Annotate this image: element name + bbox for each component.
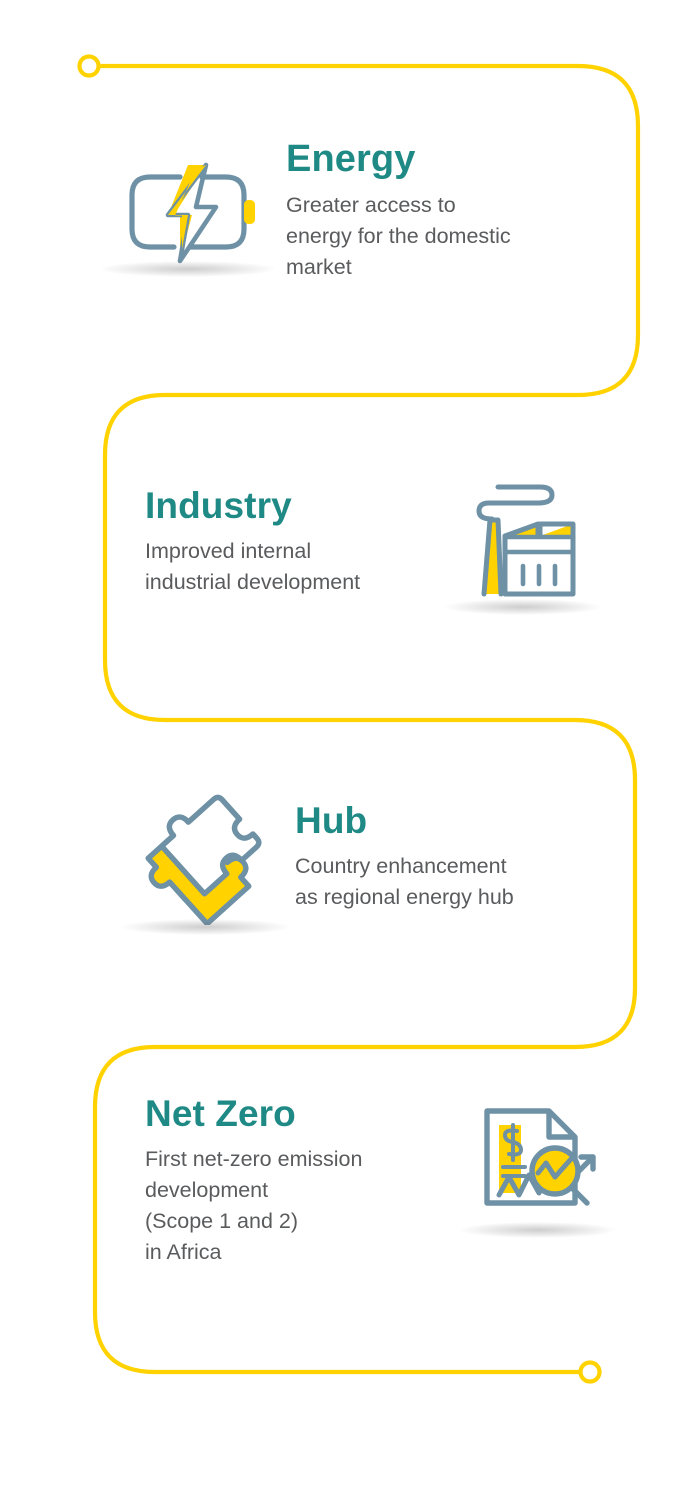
panel-hub-description: Country enhancement as regional energy h…: [295, 851, 598, 913]
desc-line: Country enhancement: [295, 851, 598, 882]
document-chart-magnifier-icon-wrap: [475, 1103, 600, 1228]
icon-shadow: [444, 599, 600, 615]
panel-energy-title: Energy: [286, 140, 588, 180]
panel-netzero: Net Zero First net-zero emission develop…: [145, 1095, 600, 1269]
desc-line: First net-zero emission: [145, 1144, 457, 1175]
panel-energy: Energy Greater access to energy for the …: [118, 140, 588, 283]
panel-netzero-title: Net Zero: [145, 1095, 457, 1134]
desc-line: energy for the domestic: [286, 221, 588, 252]
factory-icon: [460, 480, 585, 605]
panel-energy-description: Greater access to energy for the domesti…: [286, 190, 588, 284]
panel-netzero-text: Net Zero First net-zero emission develop…: [145, 1095, 457, 1269]
battery-lightning-icon-wrap: [118, 157, 258, 267]
icon-shadow: [121, 919, 290, 935]
desc-line: market: [286, 252, 588, 283]
icon-shadow: [459, 1222, 615, 1238]
panel-industry-text: Industry Improved internal industrial de…: [145, 487, 438, 598]
document-chart-magnifier-icon: [475, 1103, 600, 1228]
desc-line: in Africa: [145, 1237, 457, 1268]
panel-energy-text: Energy Greater access to energy for the …: [286, 140, 588, 283]
desc-line: industrial development: [145, 567, 438, 598]
infographic-root: Energy Greater access to energy for the …: [0, 0, 700, 1496]
factory-icon-wrap: [460, 480, 585, 605]
battery-lightning-icon: [118, 157, 258, 267]
panel-hub-text: Hub Country enhancement as regional ener…: [295, 802, 598, 913]
puzzle-pieces-icon: [138, 790, 273, 925]
icon-shadow: [101, 261, 276, 277]
desc-line: development: [145, 1175, 457, 1206]
desc-line: (Scope 1 and 2): [145, 1206, 457, 1237]
panel-industry-description: Improved internal industrial development: [145, 536, 438, 598]
desc-line: as regional energy hub: [295, 882, 598, 913]
puzzle-pieces-icon-wrap: [138, 790, 273, 925]
panel-hub: Hub Country enhancement as regional ener…: [138, 790, 598, 925]
panel-industry-title: Industry: [145, 487, 438, 526]
desc-line: Improved internal: [145, 536, 438, 567]
panel-industry: Industry Improved internal industrial de…: [145, 480, 585, 605]
panel-netzero-description: First net-zero emission development (Sco…: [145, 1144, 457, 1269]
smoke-curl: [479, 487, 552, 519]
battery-terminal: [245, 201, 254, 223]
desc-line: Greater access to: [286, 190, 588, 221]
end-node-circle: [581, 1363, 600, 1382]
panel-hub-title: Hub: [295, 802, 598, 841]
start-node-circle: [80, 57, 99, 76]
